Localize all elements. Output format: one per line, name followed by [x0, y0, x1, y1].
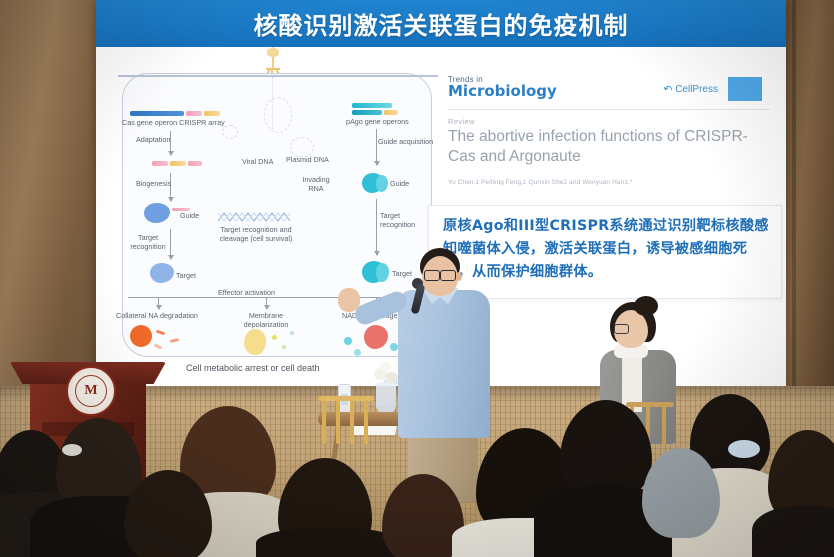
label-invading-rna: Invading RNA: [300, 175, 332, 193]
crispr-repeat-3: [188, 161, 202, 166]
viral-dna-coil: [264, 97, 292, 133]
ion-dot-2: [282, 345, 286, 349]
label-outcome-2: Membrane depolarization: [238, 311, 294, 329]
presenter-gesturing-hand: [338, 288, 360, 312]
label-bottom-summary: Cell metabolic arrest or cell death: [186, 363, 320, 374]
label-target-recognition-right: Target recognition: [380, 211, 422, 229]
ion-dot-1: [272, 335, 277, 340]
audience-shoulders: [256, 528, 402, 557]
arrow-target-recognition-left: [170, 229, 171, 259]
pago-operon-bar-2: [352, 110, 382, 115]
chair-slat: [336, 400, 340, 444]
chair-center: [318, 396, 374, 456]
chair-slat: [364, 400, 368, 444]
label-center-note: Target recognition and cleavage (cell su…: [210, 225, 302, 243]
label-target-recognition-left: Target recognition: [130, 233, 166, 251]
arrow-outcome-1: [158, 297, 159, 309]
host-hair-bun: [634, 296, 658, 316]
label-adaptation: Adaptation: [136, 135, 170, 144]
cellpress-label: CellPress: [675, 84, 718, 95]
crispr-repeat-1: [152, 161, 168, 166]
label-pago-operon: pAgo gene operons: [346, 117, 409, 126]
arrow-guide-acquisition: [376, 129, 377, 165]
pago-operon-bar-1: [352, 103, 392, 108]
label-guide-left: Guide: [180, 211, 199, 220]
article-section-tag: Review: [448, 117, 475, 126]
label-effector-activation: Effector activation: [218, 288, 275, 297]
plasmid-dna-circle: [290, 137, 314, 157]
label-biogenesis: Biogenesis: [136, 179, 171, 188]
flower-3: [380, 362, 391, 372]
label-target-left: Target: [176, 271, 196, 280]
crispr-pathway-diagram: Cas gene operon CRISPR array Adaptation …: [114, 53, 444, 383]
emblem-letters: M: [75, 375, 107, 407]
cellpress-mark-icon: ↶: [661, 82, 674, 97]
nad-fragment-1: [344, 337, 352, 345]
label-guide-acquisition: Guide acquisition: [378, 137, 436, 146]
article-authors: Yu Chen,1 Peifeng Feng,1 Qunxin She2 and…: [448, 179, 633, 186]
dna-duplex-wave: [218, 209, 290, 225]
nuclease-orange: [130, 325, 152, 347]
label-outcome-1: Collateral NA degradation: [116, 311, 198, 320]
cell-membrane: [118, 75, 438, 77]
crispr-array-bar-1: [186, 111, 202, 116]
label-plasmid-dna: Plasmid DNA: [286, 155, 329, 164]
arrow-outcome-2: [266, 297, 267, 309]
flower-vase: [376, 382, 396, 414]
arrow-target-recognition-right: [376, 199, 377, 255]
presenter-ear: [456, 272, 462, 281]
label-guide-right: Guide: [390, 179, 409, 188]
cellpress-logo: ↶ CellPress: [663, 83, 718, 96]
wood-wall-right: [782, 0, 834, 430]
audience-hair-bow: [728, 440, 760, 458]
ion-dot-3: [290, 331, 294, 335]
journal-name-line2: Microbiology: [448, 82, 770, 100]
slide-title: 核酸识别激活关联蛋白的免疫机制: [254, 6, 629, 41]
chair-slat: [322, 400, 326, 444]
chair-slat: [662, 406, 666, 446]
article-title: The abortive infection functions of CRIS…: [448, 127, 764, 167]
label-cas-operon: Cas gene operon CRISPR array: [122, 118, 225, 127]
crispr-array-bar-2: [204, 111, 220, 116]
small-circle-a: [222, 125, 238, 139]
audience-shoulders: [752, 506, 834, 557]
slide-banner: 核酸识别激活关联蛋白的免疫机制: [96, 0, 786, 47]
pago-operon-bar-3: [384, 110, 398, 115]
presenter-glasses-right: [440, 270, 456, 281]
audience-hair-tie: [62, 444, 82, 456]
wood-wall-left: [0, 0, 96, 400]
crispr-repeat-2: [170, 161, 186, 166]
membrane-pore-protein: [244, 329, 266, 355]
header-divider: [448, 109, 770, 110]
nad-fragment-2: [354, 349, 361, 356]
journal-cover-thumb: [728, 77, 762, 101]
lecture-photo: 核酸识别激活关联蛋白的免疫机制: [0, 0, 834, 557]
cas-operon-bar: [130, 111, 184, 116]
host-glasses: [614, 324, 629, 334]
chair-slat: [350, 400, 354, 444]
label-viral-dna: Viral DNA: [242, 157, 273, 166]
university-emblem: M: [66, 366, 116, 416]
presenter-glasses-left: [424, 270, 440, 281]
